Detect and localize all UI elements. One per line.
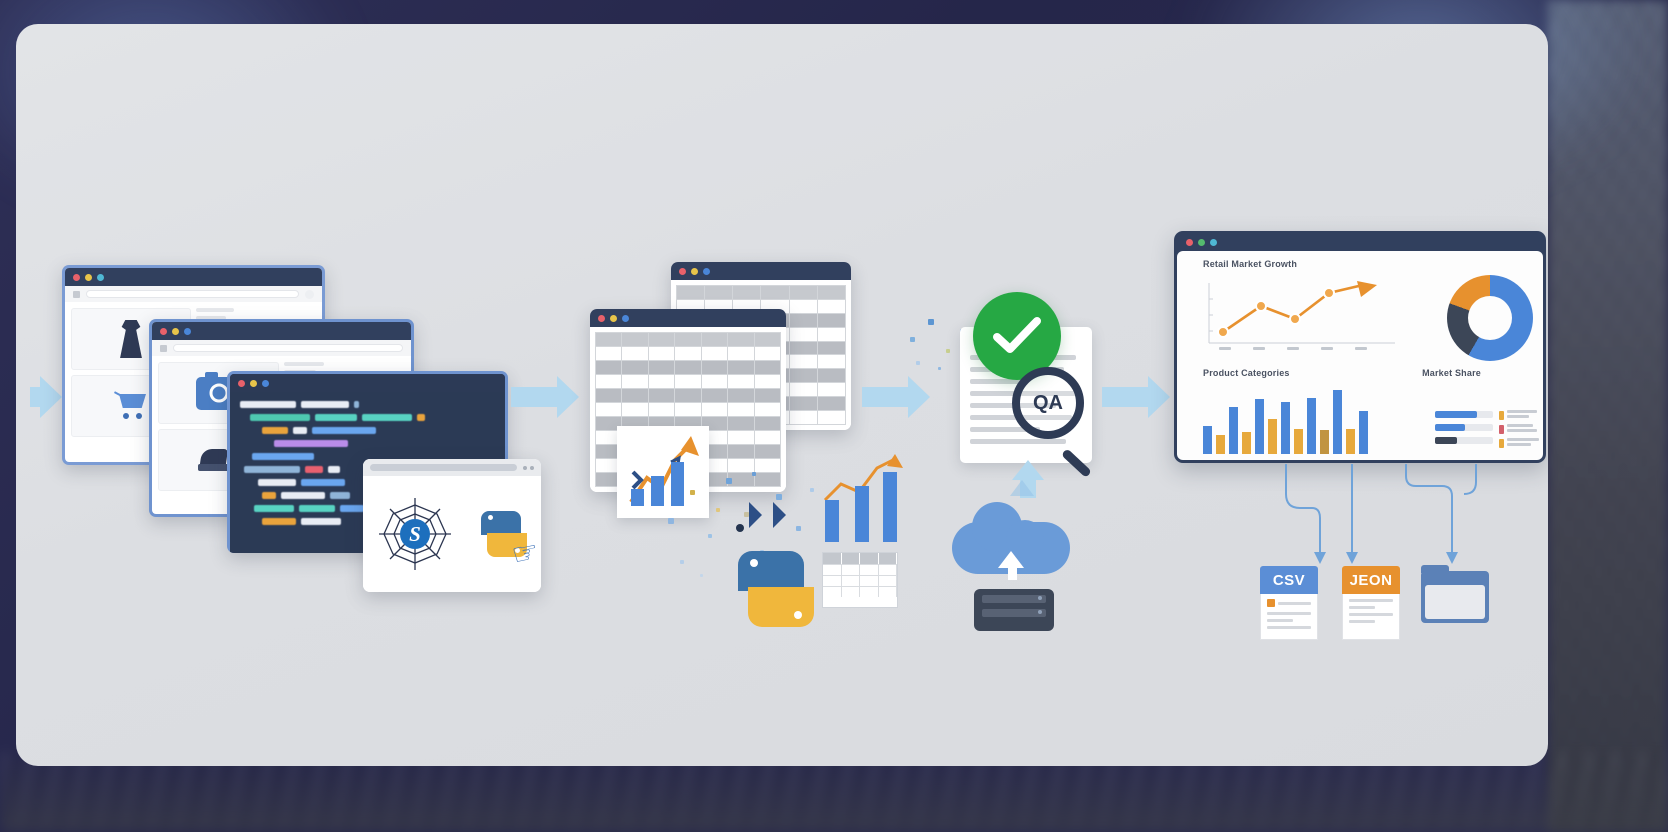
checkmark-icon [992, 316, 1042, 356]
close-dot-icon[interactable] [238, 380, 245, 387]
close-dot-icon[interactable] [679, 268, 686, 275]
cloud-upload-icon [952, 504, 1072, 574]
maximize-dot-icon[interactable] [184, 328, 191, 335]
donut-chart [1447, 275, 1533, 361]
folder-icon[interactable] [1421, 571, 1489, 623]
scraping-tools-window[interactable]: S ☞ [363, 459, 541, 592]
chevron-icon [773, 502, 786, 528]
titlebar-spreadsheet-front [590, 309, 786, 327]
infographic-canvas: $ $ [16, 24, 1548, 766]
site-icon [73, 291, 80, 298]
dashboard-body: Retail Market Growth [1177, 251, 1543, 460]
minimize-dot-icon[interactable] [250, 380, 257, 387]
url-input[interactable] [173, 344, 403, 352]
line-chart-title: Retail Market Growth [1203, 259, 1297, 269]
site-icon [160, 345, 167, 352]
url-input[interactable] [86, 290, 299, 298]
extracted-data-table[interactable] [822, 552, 898, 608]
dashboard-key-list [1499, 410, 1539, 452]
maximize-dot-icon[interactable] [1210, 239, 1217, 246]
json-file-label: JEON [1342, 566, 1400, 594]
titlebar-code-editor [230, 374, 505, 392]
minimize-dot-icon[interactable] [610, 315, 617, 322]
titlebar-dashboard [1177, 234, 1543, 251]
close-dot-icon[interactable] [73, 274, 80, 281]
scrapy-badge-letter: S [400, 519, 430, 549]
qa-magnifier-label: QA [1012, 367, 1084, 439]
maximize-dot-icon[interactable] [622, 315, 629, 322]
chevron-icon [749, 502, 762, 528]
bar-chart-title: Product Categories [1203, 368, 1290, 378]
csv-file-card[interactable]: CSV [1260, 566, 1318, 640]
maximize-dot-icon[interactable] [97, 274, 104, 281]
csv-file-preview [1260, 594, 1318, 640]
close-dot-icon[interactable] [160, 328, 167, 335]
file-type-icon [1267, 599, 1275, 607]
json-file-card[interactable]: JEON [1342, 566, 1400, 640]
line-chart [1205, 281, 1397, 355]
python-logo-large-icon [738, 551, 814, 627]
secondary-bar-chart [821, 454, 903, 542]
tools-url-input[interactable] [370, 464, 517, 471]
csv-file-label: CSV [1260, 566, 1318, 594]
bar-chart [1203, 390, 1368, 454]
minimize-dot-icon[interactable] [691, 268, 698, 275]
window-controls[interactable] [523, 466, 534, 470]
tools-titlebar [363, 459, 541, 476]
minimize-dot-icon[interactable] [85, 274, 92, 281]
analytics-dashboard-window[interactable]: Retail Market Growth [1174, 231, 1546, 463]
titlebar-spreadsheet-back [671, 262, 851, 280]
qa-magnifier[interactable]: QA [1012, 367, 1104, 459]
outer-frame: $ $ [0, 0, 1668, 832]
shopping-cart-icon [114, 393, 148, 419]
python-logo-icon[interactable]: ☞ [481, 511, 527, 557]
maximize-dot-icon[interactable] [262, 380, 269, 387]
titlebar-shop-1 [65, 268, 322, 286]
maximize-dot-icon[interactable] [703, 268, 710, 275]
tools-body: S ☞ [363, 476, 541, 592]
address-bar-shop-1[interactable] [65, 286, 322, 302]
donut-legend [1435, 411, 1493, 450]
hand-cursor-icon: ☞ [509, 534, 541, 574]
close-dot-icon[interactable] [598, 315, 605, 322]
scrapy-spider-icon[interactable]: S [377, 496, 453, 572]
avatar[interactable] [305, 290, 314, 299]
server-rack-icon [974, 589, 1054, 631]
minimize-dot-icon[interactable] [172, 328, 179, 335]
close-dot-icon[interactable] [1186, 239, 1193, 246]
dress-icon [118, 320, 144, 358]
address-bar-shop-2[interactable] [152, 340, 411, 356]
donut-chart-title: Market Share [1422, 368, 1481, 378]
json-file-preview [1342, 594, 1400, 640]
titlebar-shop-2 [152, 322, 411, 340]
minimize-dot-icon[interactable] [1198, 239, 1205, 246]
